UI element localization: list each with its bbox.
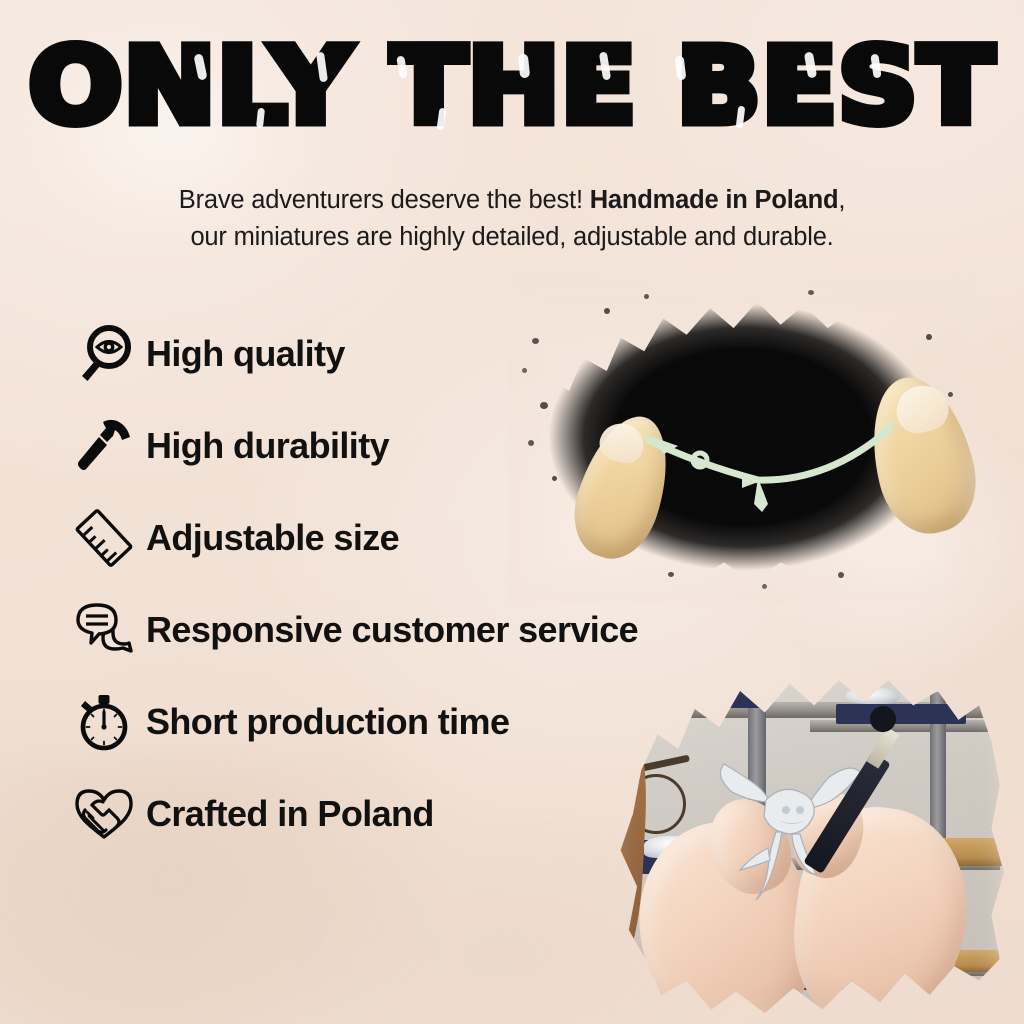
- feature-label: Responsive customer service: [146, 609, 638, 651]
- hammer-icon: [62, 409, 146, 483]
- feature-label: Adjustable size: [146, 517, 399, 559]
- subtitle-line-2: our miniatures are highly detailed, adju…: [190, 223, 833, 251]
- page-title: ONLY THE BEST: [29, 34, 995, 138]
- subtitle-line-1: Brave adventurers deserve the best! Hand…: [179, 186, 845, 214]
- tray-top-left: [696, 690, 766, 708]
- subtitle: Brave adventurers deserve the best! Hand…: [0, 182, 1024, 256]
- heart-handshake-icon: [62, 777, 146, 851]
- workshop-painting-photo: [600, 662, 1012, 1024]
- speech-bubbles-icon: [62, 593, 146, 667]
- miniature-cluster-top: [846, 688, 900, 704]
- workshop-photo-inner: [600, 662, 1012, 1024]
- subtitle-text-before-bold: Brave adventurers deserve the best!: [179, 186, 590, 214]
- feature-label: High quality: [146, 333, 345, 375]
- feature-label: Crafted in Poland: [146, 793, 434, 835]
- flexible-miniature-photo-inner: [508, 272, 978, 602]
- headline-container: ONLY THE BEST: [0, 34, 1024, 138]
- subtitle-text-after-bold: ,: [838, 186, 845, 214]
- flexible-miniature-part: [638, 412, 918, 522]
- feature-label: High durability: [146, 425, 389, 467]
- magnifier-eye-icon: [62, 317, 146, 391]
- promo-poster: ONLY THE BEST Brave adventurers deserve …: [0, 0, 1024, 1024]
- ruler-icon: [62, 501, 146, 575]
- feature-label: Short production time: [146, 701, 509, 743]
- flexible-miniature-photo: [508, 272, 978, 602]
- stopwatch-icon: [62, 685, 146, 759]
- subtitle-bold-phrase: Handmade in Poland: [590, 186, 839, 214]
- tray-top-right: [836, 704, 966, 724]
